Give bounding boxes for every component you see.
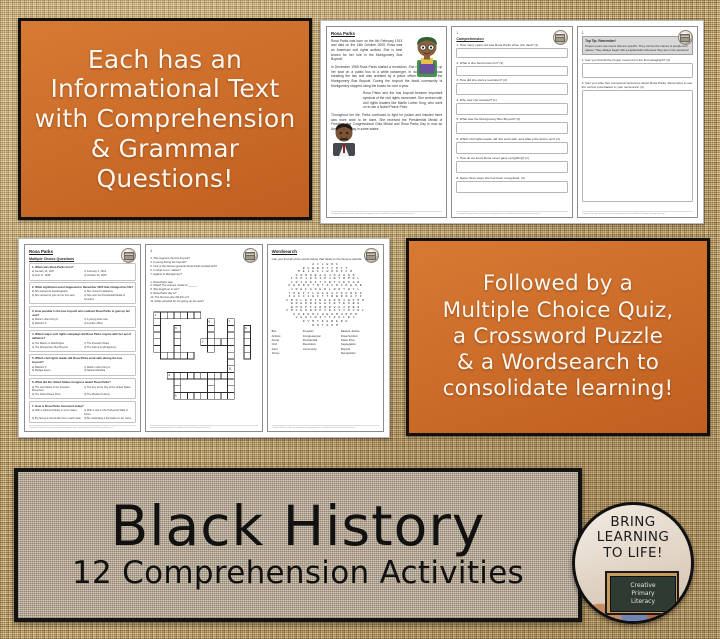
svg-text:6: 6 xyxy=(209,320,211,324)
callout-top-line-2: Informational Text xyxy=(35,74,296,104)
crossword-page-number: 4 xyxy=(150,249,257,253)
wordsearch-words-column-2: Freedom Congressional Presidential Revol… xyxy=(303,330,338,357)
question-2: 2. What is she best known for? (1) xyxy=(456,61,567,65)
answer-box-6[interactable] xyxy=(456,142,567,154)
logo-line-1: BRING xyxy=(575,515,691,530)
questions-page-footer: Creative Primary Literacy www.teacherspa… xyxy=(456,211,567,215)
page-subtitle: 12 Comprehension Activities xyxy=(72,556,524,590)
mcq-question: 2. What significant event happened in De… xyxy=(32,285,133,289)
mcq-option[interactable]: b) The Montgomery Bus Boycott xyxy=(32,346,81,350)
svg-text:2: 2 xyxy=(202,340,204,344)
mcq-option[interactable]: c) With a visit on the Hollywood Walk of… xyxy=(84,409,133,417)
callout-mid-line-3: a Crossword Puzzle xyxy=(443,324,674,350)
grammar-answer-box-2[interactable] xyxy=(582,90,693,202)
wordsearch-letter-grid[interactable]: A C L E R I R U B B O Y C O T T M E J E … xyxy=(272,263,379,327)
crossword-page[interactable]: 4 3. This segment the bus boycott? 4. A … xyxy=(145,244,262,432)
question-7: 7. How do we know Rosa never gave up fig… xyxy=(456,156,567,160)
svg-text:4: 4 xyxy=(169,373,171,377)
mcq-item[interactable]: 5. Which civil rights leader did Rosa Pa… xyxy=(29,354,136,376)
mcq-option[interactable]: d) A police officer xyxy=(84,322,133,326)
wordsearch-word: Community xyxy=(303,348,338,352)
svg-text:7: 7 xyxy=(229,320,231,324)
grammar-page[interactable]: 2 Top Tip: Remember! Proper nouns are no… xyxy=(577,26,698,218)
crossword-clues-across: 1. Rosa Parks was 2. What? The science m… xyxy=(150,281,257,304)
svg-text:3: 3 xyxy=(175,326,177,330)
wordsearch-intro: Can you find all of the words below that… xyxy=(272,257,379,261)
chalkboard-line-2: Primary xyxy=(631,590,654,598)
reading-passage-page[interactable]: Rosa Parks Rosa Parks was born on the 4t… xyxy=(326,26,447,218)
wordsearch-page[interactable]: Wordsearch Can you find all of the words… xyxy=(267,244,384,432)
callout-top-line-5: Questions! xyxy=(35,164,296,194)
grammar-page-number: 2 xyxy=(582,31,693,35)
grammar-task-2: 2. Can you write four compound sentences… xyxy=(582,81,693,89)
grammar-tip-heading: Top Tip: Remember! xyxy=(585,39,689,43)
answer-box-4[interactable] xyxy=(456,103,567,115)
callout-mid-line-2: Multiple Choice Quiz, xyxy=(443,298,674,324)
question-4: 4. Why was she arrested? (1) xyxy=(456,98,567,102)
callout-mid-line-1: Followed by a xyxy=(443,271,674,297)
question-6: 6. Which civil rights leader did she wor… xyxy=(456,137,567,141)
mcq-option[interactable]: d) By celebrating a foundation in her na… xyxy=(84,417,133,421)
crossword-clue: 7. Against in Montgomery? xyxy=(150,273,257,277)
callout-mid-text: Followed by a Multiple Choice Quiz, a Cr… xyxy=(437,271,680,402)
mcq-item[interactable]: 3. How peculiar is the bus boycott who r… xyxy=(29,306,136,328)
mcq-option[interactable]: d) She won the Presidential Medal of Fre… xyxy=(84,294,133,302)
callout-activities: Followed by a Multiple Choice Quiz, a Cr… xyxy=(406,238,710,436)
wordsearch-word-list: Bus Activist Arrest Civil Juror Jimmy Fr… xyxy=(272,330,379,357)
svg-text:5: 5 xyxy=(175,393,177,397)
chalkboard-line-1: Creative xyxy=(630,582,655,590)
wordsearch-row: R N Y G Z M xyxy=(272,324,379,328)
answer-box-7[interactable] xyxy=(456,161,567,173)
mcq-option[interactable]: b) The Nobel Peace Prize xyxy=(32,393,81,397)
mcq-item[interactable]: 2. What significant event happened in De… xyxy=(29,282,136,304)
crossword-page-footer: www.teacherspayteachers.com/Store/Creati… xyxy=(150,425,257,429)
mcq-item[interactable]: 1. When was Rosa Parks born? a) January … xyxy=(29,263,136,281)
mcq-option[interactable]: b) By having a school after her in each … xyxy=(32,417,81,421)
mcq-page-footer: Creative Primary Literacy www.teacherspa… xyxy=(29,425,136,429)
callout-top-text: Each has an Informational Text with Comp… xyxy=(29,45,302,194)
wordsearch-word: Jimmy xyxy=(272,352,300,356)
martin-luther-king-illustration xyxy=(329,122,359,156)
comprehension-questions-page[interactable]: 1 Comprehension 1. How many years old wa… xyxy=(451,26,572,218)
question-3: 3. How did she start a revolution? (2) xyxy=(456,78,567,82)
mcq-item[interactable]: 4. Which major civil rights campaign did… xyxy=(29,330,136,352)
mcq-option[interactable]: a) The nomination of the Freedom Movemen… xyxy=(32,386,81,394)
chalkboard-icon: Creative Primary Literacy xyxy=(605,571,679,615)
mcq-option[interactable]: b) She refused to give up her bus seat xyxy=(32,294,81,302)
stamp-icon xyxy=(553,30,568,45)
mcq-title: Rosa Parks xyxy=(29,249,136,254)
answer-box-3[interactable] xyxy=(456,83,567,95)
rosa-parks-illustration xyxy=(410,34,444,78)
grammar-answer-box-1[interactable] xyxy=(582,63,693,78)
stamp-icon xyxy=(121,248,136,263)
logo-line-3: TO LIFE! xyxy=(575,546,691,561)
chalkboard-text: Creative Primary Literacy xyxy=(610,576,676,612)
stamp-icon xyxy=(678,30,693,45)
chalkboard-line-3: Literacy xyxy=(631,598,655,606)
mcq-option[interactable]: b) April 17, 1948 xyxy=(32,274,81,278)
reading-paragraph-1: Rosa Parks was born on the 4th February … xyxy=(331,39,402,62)
activity-worksheet-group: Rosa Parks Multiple Choice Questions 1. … xyxy=(18,238,390,438)
svg-text:1: 1 xyxy=(155,313,157,317)
reading-page-footer: Creative Primary Literacy www.teacherspa… xyxy=(331,211,442,215)
mcq-question: 5. Which civil rights leader did Rosa Pa… xyxy=(32,356,133,364)
mcq-question: 7. How is Rosa Parks honoured today? xyxy=(32,404,133,408)
crossword-grid[interactable]: 136 792 4115 xyxy=(150,306,257,415)
questions-heading: Comprehension xyxy=(456,37,567,41)
mcq-item[interactable]: 7. How is Rosa Parks honoured today? a) … xyxy=(29,401,136,423)
question-8: 8. Name three ways she has been recognis… xyxy=(456,176,567,180)
mcq-question: 4. Which major civil rights campaign did… xyxy=(32,332,133,340)
mcq-option[interactable]: b) Malcolm X xyxy=(32,322,81,326)
logo-line-2: LEARNING xyxy=(575,530,691,545)
brand-logo-badge[interactable]: BRING LEARNING TO LIFE! Creative Primary… xyxy=(572,502,694,624)
callout-top-line-3: with Comprehension xyxy=(35,104,296,134)
callout-top-line-1: Each has an xyxy=(35,45,296,75)
answer-box-1[interactable] xyxy=(456,48,567,58)
questions-page-number: 1 xyxy=(456,31,567,35)
svg-text:9: 9 xyxy=(245,326,247,330)
mcq-question: 1. When was Rosa Parks born? xyxy=(32,265,133,269)
mcq-option[interactable]: c) The Key to the City of the United Sta… xyxy=(84,386,133,394)
mcq-option[interactable]: a) With a national holiday in some state… xyxy=(32,409,81,417)
mcq-option[interactable]: d) October 24, 2005 xyxy=(84,274,133,278)
svg-text:11: 11 xyxy=(229,366,232,370)
callout-mid-line-4: & a Wordsearch to xyxy=(443,350,674,376)
mcq-option[interactable]: b) Medgar Evers xyxy=(32,369,81,373)
mcq-option[interactable]: d) The Selma to Montgomery xyxy=(84,346,133,350)
wordsearch-word: Recognition xyxy=(341,352,379,356)
reading-paragraph-3: Rosa Parks and the bus boycott became im… xyxy=(363,91,442,110)
grammar-page-footer: Creative Primary Literacy www.teacherspa… xyxy=(582,211,693,215)
crossword-clues-down: 3. This segment the bus boycott? 4. A yo… xyxy=(150,257,257,277)
grammar-task-1: 1. Can you find all the proper nouns fro… xyxy=(582,58,693,62)
crossword-clue: 11. Parks arrested for not giving up her… xyxy=(150,300,257,304)
callout-top-line-4: & Grammar xyxy=(35,134,296,164)
mcq-question: 3. How peculiar is the bus boycott who r… xyxy=(32,309,133,317)
callout-mid-line-5: consolidate learning! xyxy=(443,376,674,402)
mcq-subtitle: Multiple Choice Questions xyxy=(29,257,136,261)
wordsearch-page-footer: Creative Primary Literacy www.teacherspa… xyxy=(272,425,379,429)
title-banner: Black History 12 Comprehension Activitie… xyxy=(14,468,582,622)
mcq-option[interactable]: d) The Medal of Liberty xyxy=(84,393,133,397)
grammar-tip-box: Top Tip: Remember! Proper nouns are noun… xyxy=(582,36,693,55)
answer-box-2[interactable] xyxy=(456,66,567,76)
question-5: 5. What was the Montgomery Bus Boycott? … xyxy=(456,117,567,121)
mcq-item[interactable]: 6. What did the United States Congress a… xyxy=(29,378,136,400)
mcq-option[interactable]: d) Nelson Mandela xyxy=(84,369,133,373)
answer-box-5[interactable] xyxy=(456,122,567,134)
answer-box-8[interactable] xyxy=(456,181,567,193)
page-title: Black History xyxy=(111,499,486,554)
question-1: 1. How many years old was Rosa Parks whe… xyxy=(456,43,567,47)
multiple-choice-page[interactable]: Rosa Parks Multiple Choice Questions 1. … xyxy=(24,244,141,432)
wordsearch-words-column-3: Eleanor Justice Rosa Symbol Parks Prize … xyxy=(341,330,379,357)
mcq-question: 6. What did the United States Congress a… xyxy=(32,380,133,384)
wordsearch-title: Wordsearch xyxy=(272,249,379,254)
stamp-icon xyxy=(364,248,379,263)
wordsearch-words-column-1: Bus Activist Arrest Civil Juror Jimmy xyxy=(272,330,300,357)
logo-tagline: BRING LEARNING TO LIFE! xyxy=(575,515,691,561)
callout-informational-text: Each has an Informational Text with Comp… xyxy=(18,18,312,220)
grammar-tip-body: Proper nouns are nouns that are specific… xyxy=(585,44,689,52)
top-worksheet-group: Rosa Parks Rosa Parks was born on the 4t… xyxy=(320,20,704,224)
stamp-icon xyxy=(243,248,258,263)
